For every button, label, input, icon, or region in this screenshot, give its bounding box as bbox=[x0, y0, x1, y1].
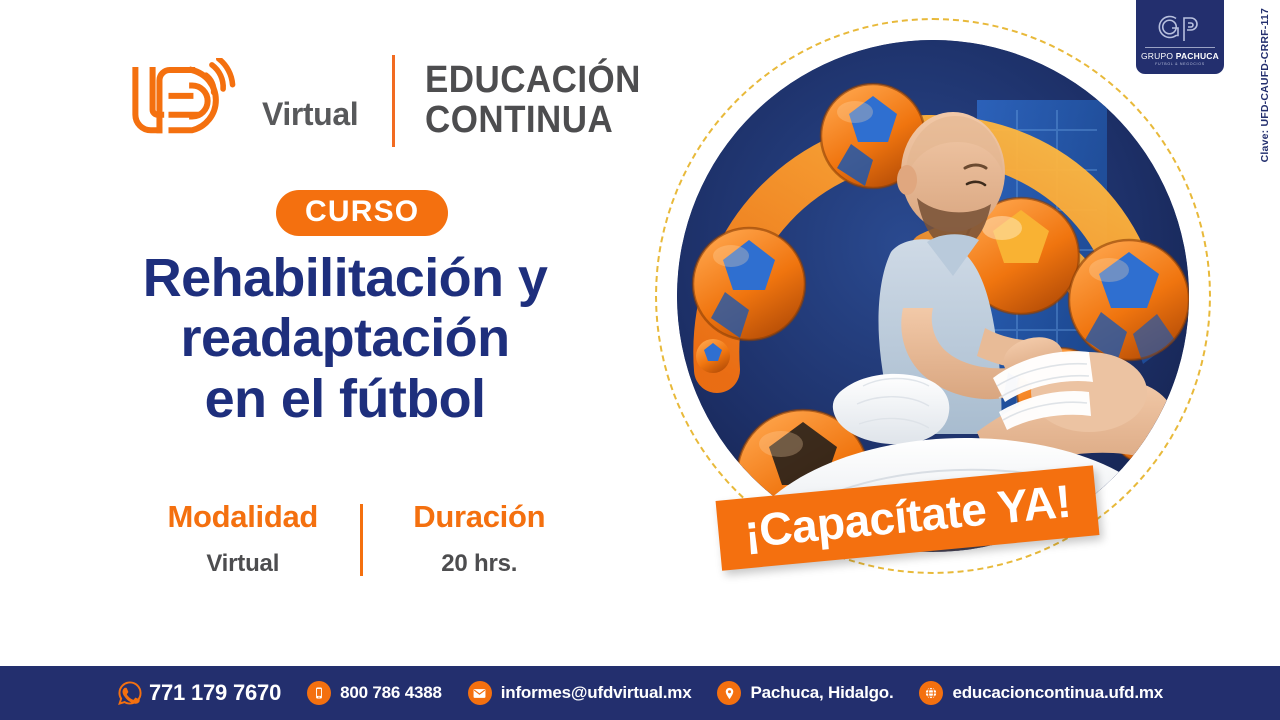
detail-modalidad-label: Modalidad bbox=[126, 500, 360, 534]
contact-location[interactable]: Pachuca, Hidalgo. bbox=[717, 681, 893, 705]
contact-footer-bar: 771 179 7670 800 786 4388 informes@ufdvi… bbox=[0, 666, 1280, 720]
contact-location-text: Pachuca, Hidalgo. bbox=[750, 683, 893, 703]
course-title: Rehabilitación y readaptación en el fútb… bbox=[40, 248, 650, 429]
detail-modalidad-value: Virtual bbox=[126, 550, 360, 578]
contact-whatsapp[interactable]: 771 179 7670 bbox=[117, 680, 281, 706]
whatsapp-icon bbox=[117, 680, 143, 706]
ufd-virtual-lockup: Virtual bbox=[128, 58, 358, 144]
ufd-virtual-label: Virtual bbox=[262, 98, 358, 130]
detail-modalidad: Modalidad Virtual bbox=[126, 500, 360, 578]
curso-badge: CURSO bbox=[276, 190, 448, 236]
physiotherapist-treating-knee-photo bbox=[677, 40, 1189, 552]
contact-email-text: informes@ufdvirtual.mx bbox=[501, 683, 692, 703]
location-pin-icon bbox=[717, 681, 741, 705]
educacion-continua-line-1: EDUCACIÓN bbox=[425, 61, 641, 101]
globe-icon bbox=[919, 681, 943, 705]
detail-duracion: Duración 20 hrs. bbox=[363, 500, 597, 578]
detail-duracion-value: 20 hrs. bbox=[363, 550, 597, 578]
course-promo-poster: GRUPO PACHUCA FUTBOL & NEGOCIOS Clave: U… bbox=[0, 0, 1280, 720]
contact-email[interactable]: informes@ufdvirtual.mx bbox=[468, 681, 692, 705]
contact-phone-text: 800 786 4388 bbox=[340, 683, 442, 703]
clave-code: Clave: UFD-CAUFD-CRRF-117 bbox=[1256, 8, 1274, 198]
detail-duracion-label: Duración bbox=[363, 500, 597, 534]
contact-whatsapp-text: 771 179 7670 bbox=[149, 680, 281, 706]
ufd-logo-icon bbox=[128, 58, 258, 144]
course-details: Modalidad Virtual Duración 20 hrs. bbox=[126, 500, 596, 578]
educacion-continua-title: EDUCACIÓN CONTINUA bbox=[425, 61, 641, 140]
contact-website-text: educacioncontinua.ufd.mx bbox=[952, 683, 1163, 703]
course-title-line-2: readaptación bbox=[40, 308, 650, 368]
course-title-line-3: en el fútbol bbox=[40, 369, 650, 429]
header: Virtual EDUCACIÓN CONTINUA bbox=[128, 46, 660, 156]
contact-phone[interactable]: 800 786 4388 bbox=[307, 681, 442, 705]
header-divider bbox=[392, 55, 395, 147]
course-title-line-1: Rehabilitación y bbox=[40, 248, 650, 308]
educacion-continua-line-2: CONTINUA bbox=[425, 101, 641, 141]
clave-code-text: Clave: UFD-CAUFD-CRRF-117 bbox=[1259, 8, 1271, 162]
contact-website[interactable]: educacioncontinua.ufd.mx bbox=[919, 681, 1163, 705]
email-icon bbox=[468, 681, 492, 705]
phone-icon bbox=[307, 681, 331, 705]
